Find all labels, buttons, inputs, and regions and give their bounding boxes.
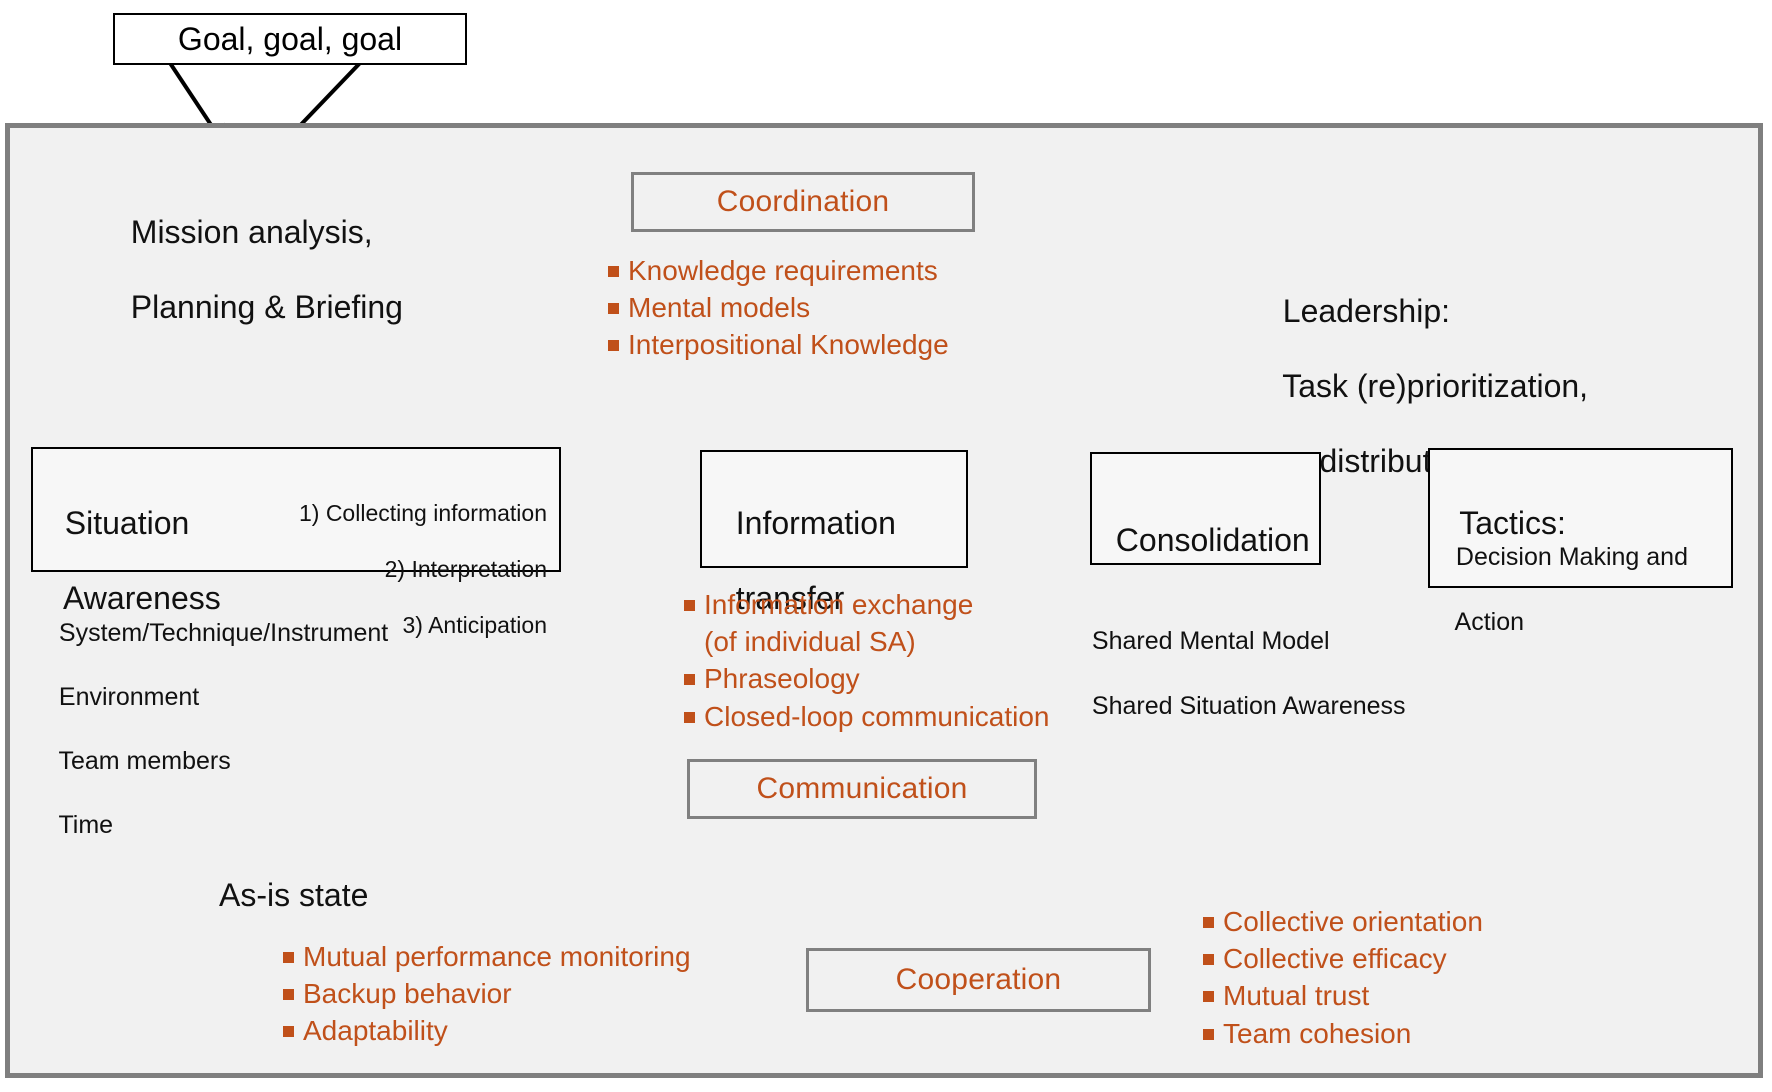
bullet-square-icon bbox=[684, 712, 695, 723]
bullet-square-icon bbox=[283, 1026, 294, 1037]
tactics-detail: Decision Making and Action bbox=[1442, 508, 1688, 638]
leadership-label: Leadership: Task (re)prioritization, -di… bbox=[1265, 256, 1588, 481]
list-item: Phraseology bbox=[684, 660, 1050, 697]
bullet-square-icon bbox=[1203, 1029, 1214, 1040]
cooperation-bullets-right: Collective orientation Collective effica… bbox=[1203, 903, 1483, 1052]
communication-label: Communication bbox=[756, 772, 967, 806]
list-item: Collective orientation bbox=[1203, 903, 1483, 940]
bullet-square-icon bbox=[1203, 991, 1214, 1002]
coordination-label: Coordination bbox=[717, 185, 890, 219]
list-item: Information exchange bbox=[684, 586, 1050, 623]
list-item: Team cohesion bbox=[1203, 1015, 1483, 1052]
bullet-square-icon bbox=[1203, 917, 1214, 928]
consolidation-label: Consolidation bbox=[1098, 485, 1310, 560]
cooperation-label: Cooperation bbox=[896, 963, 1062, 997]
list-item: (of individual SA) bbox=[684, 623, 1050, 660]
bullet-square-icon bbox=[283, 989, 294, 1000]
communication-bullets: Information exchange (of individual SA) … bbox=[684, 586, 1050, 735]
bullet-square-icon bbox=[608, 340, 619, 351]
list-item: Interpositional Knowledge bbox=[608, 326, 949, 363]
bullet-spacer bbox=[684, 637, 695, 648]
goal-box-label: Goal, goal, goal bbox=[178, 21, 402, 58]
bullet-square-icon bbox=[608, 303, 619, 314]
communication-box[interactable]: Communication bbox=[687, 759, 1037, 819]
list-item: Knowledge requirements bbox=[608, 252, 949, 289]
list-item: Adaptability bbox=[283, 1012, 691, 1049]
bullet-square-icon bbox=[283, 952, 294, 963]
list-item: Backup behavior bbox=[283, 975, 691, 1012]
situation-awareness-sources: System/Technique/Instrument Environment … bbox=[45, 585, 388, 841]
list-item: Mutual trust bbox=[1203, 977, 1483, 1014]
cooperation-bullets-left: Mutual performance monitoring Backup beh… bbox=[283, 938, 691, 1050]
cooperation-box[interactable]: Cooperation bbox=[806, 948, 1151, 1012]
list-item: Mental models bbox=[608, 289, 949, 326]
list-item: Collective efficacy bbox=[1203, 940, 1483, 977]
coordination-bullets: Knowledge requirements Mental models Int… bbox=[608, 252, 949, 364]
consolidation-notes: Shared Mental Model Shared Situation Awa… bbox=[1078, 592, 1406, 722]
bullet-square-icon bbox=[1203, 954, 1214, 965]
list-item: Closed-loop communication bbox=[684, 698, 1050, 735]
bullet-square-icon bbox=[608, 266, 619, 277]
as-is-state-label: As-is state bbox=[203, 840, 368, 915]
bullet-square-icon bbox=[684, 674, 695, 685]
goal-box[interactable]: Goal, goal, goal bbox=[113, 13, 467, 65]
bullet-square-icon bbox=[684, 600, 695, 611]
mission-analysis-label: Mission analysis, Planning & Briefing bbox=[113, 177, 403, 327]
list-item: Mutual performance monitoring bbox=[283, 938, 691, 975]
coordination-box[interactable]: Coordination bbox=[631, 172, 975, 232]
